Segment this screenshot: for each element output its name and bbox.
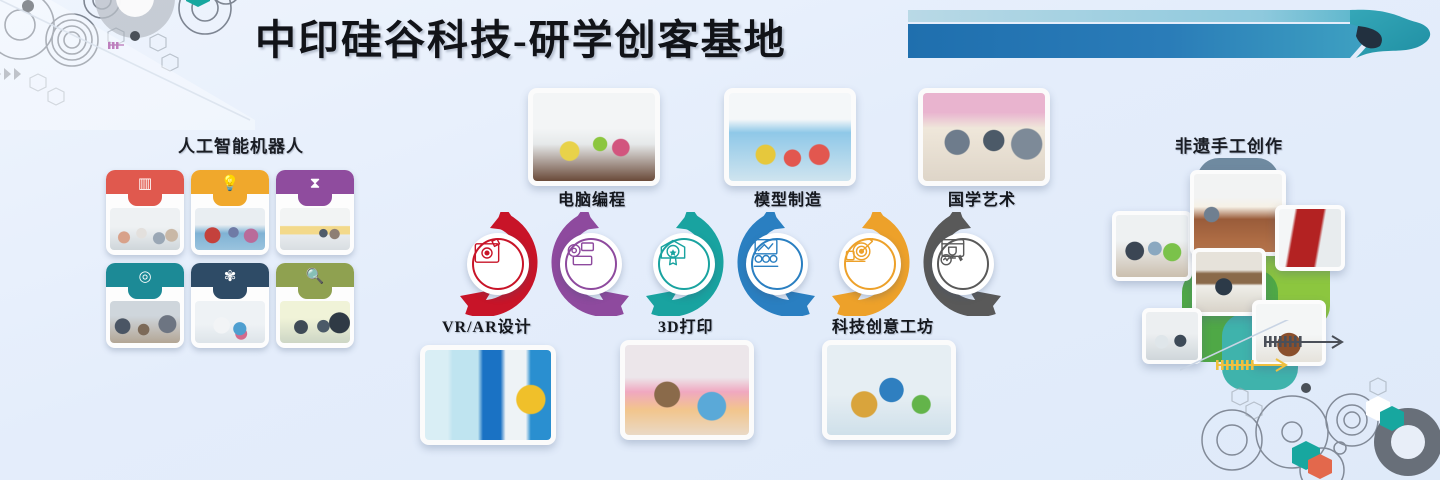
computer-programming-icon [565,238,617,290]
vr-design-icon [472,238,524,290]
photo-craft-1 [1116,215,1188,277]
ai-card-1[interactable]: ▥ [106,170,184,255]
process-ring-5[interactable] [818,212,922,316]
poster-canvas: 中印硅谷科技-研学创客基地 人工智能机器人 ▥💡⧗◎✾🔍 电脑编程 模型制造 国… [0,0,1440,480]
photo-3dprint [625,345,749,435]
photo-vr [425,350,551,440]
craft-photo-6[interactable] [1252,300,1326,366]
ai-card-5[interactable]: ✾ [191,263,269,348]
photo-art [923,93,1045,181]
magnifier-icon: 🔍 [306,266,325,288]
card-photo [110,208,180,250]
craft-photo-2[interactable] [1190,170,1286,256]
ai-card-3[interactable]: ⧗ [276,170,354,255]
photo-craft-5 [1146,312,1198,360]
section-heading-ai: 人工智能机器人 [178,132,304,157]
process-ring-4[interactable] [725,212,829,316]
craft-photo-5[interactable] [1142,308,1202,364]
page-title: 中印硅谷科技-研学创客基地 [255,6,787,66]
model-classroom-icon [751,238,803,290]
label-art: 国学艺术 [948,186,1016,210]
label-vr: VR/AR设计 [442,313,532,337]
photo-maker [827,345,951,435]
process-ring-3[interactable] [632,212,736,316]
label-maker: 科技创意工坊 [832,313,934,337]
trophy-browser-icon [937,238,989,290]
photo-card-maker[interactable] [822,340,956,440]
photo-card-art[interactable] [918,88,1050,186]
photo-card-programming[interactable] [528,88,660,186]
photo-card-vr[interactable] [420,345,556,445]
card-photo [195,208,265,250]
ring-core [839,233,901,295]
card-photo [280,208,350,250]
label-3dprint: 3D打印 [658,313,714,337]
target-icon: ◎ [138,266,151,288]
ring-core [467,233,529,295]
ai-card-4[interactable]: ◎ [106,263,184,348]
process-ring-6[interactable] [911,212,1015,316]
ring-core [746,233,808,295]
photo-card-3dprint[interactable] [620,340,754,440]
card-photo [110,301,180,343]
ai-card-6[interactable]: 🔍 [276,263,354,348]
label-programming: 电脑编程 [558,186,626,210]
process-ring-2[interactable] [539,212,643,316]
ai-card-grid: ▥💡⧗◎✾🔍 [106,170,362,348]
photo-craft-2 [1194,174,1282,252]
photo-card-model[interactable] [724,88,856,186]
card-photo [280,301,350,343]
photo-programming [533,93,655,181]
craft-photo-1[interactable] [1112,211,1192,281]
card-photo [195,301,265,343]
photo-model [729,93,851,181]
photo-craft-3 [1279,209,1341,267]
3d-print-award-icon [658,238,710,290]
ring-core [653,233,715,295]
bar-chart-icon: ▥ [138,173,152,195]
target-workshop-icon [844,238,896,290]
ribbon-banner [880,2,1440,74]
process-ring-1[interactable] [446,212,550,316]
ring-core [560,233,622,295]
craft-photo-3[interactable] [1275,205,1345,271]
hourglass-icon: ⧗ [310,173,321,195]
ring-core [932,233,994,295]
photo-craft-6 [1256,304,1322,362]
ai-card-2[interactable]: 💡 [191,170,269,255]
lightbulb-icon: 💡 [221,173,240,195]
section-heading-craft: 非遗手工创作 [1175,132,1283,157]
gear-decoration-top-left [0,0,290,120]
gear-icon: ✾ [224,266,237,288]
label-model: 模型制造 [754,186,822,210]
